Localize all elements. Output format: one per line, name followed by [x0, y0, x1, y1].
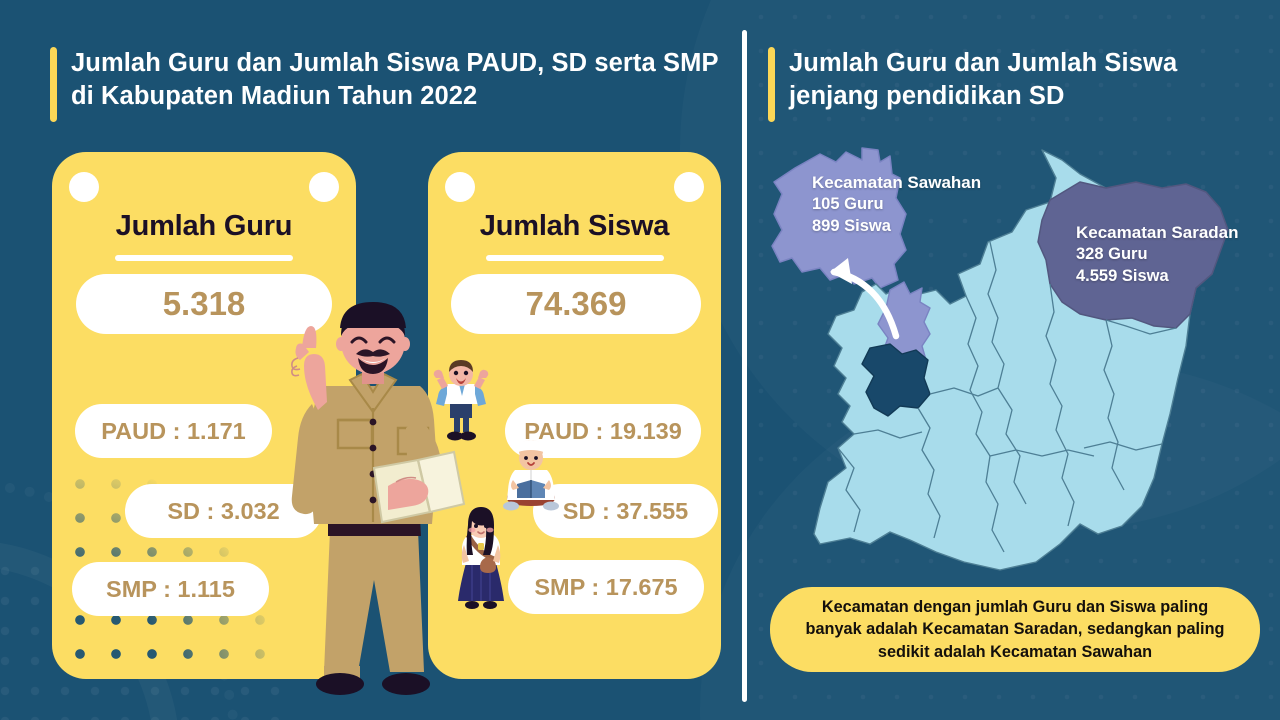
map-label-saradan-siswa: 4.559 Siswa: [1076, 266, 1239, 287]
map-region-kota[interactable]: [862, 344, 930, 416]
card-title-guru: Jumlah Guru: [52, 210, 356, 243]
card-title-siswa: Jumlah Siswa: [428, 210, 721, 243]
map-label-saradan: Kecamatan Saradan 328 Guru 4.559 Siswa: [1076, 222, 1239, 287]
map-label-sawahan-guru: 105 Guru: [812, 194, 981, 215]
stat-guru-paud: PAUD : 1.171: [75, 404, 272, 458]
summary-note-box: Kecamatan dengan jumlah Guru dan Siswa p…: [770, 587, 1260, 672]
map-label-sawahan-name: Kecamatan Sawahan: [812, 172, 981, 194]
right-page-title: Jumlah Guru dan Jumlah Siswa jenjang pen…: [789, 47, 1248, 113]
card-title-underline: [115, 255, 293, 261]
right-title-block: Jumlah Guru dan Jumlah Siswa jenjang pen…: [768, 47, 1248, 122]
punch-hole-right-icon: [309, 172, 339, 202]
punch-hole-left-icon: [445, 172, 475, 202]
card-title-underline: [486, 255, 664, 261]
student-cheering-illustration: [430, 358, 492, 446]
title-accent-bar: [768, 47, 775, 122]
left-title-block: Jumlah Guru dan Jumlah Siswa PAUD, SD se…: [50, 47, 730, 122]
punch-hole-left-icon: [69, 172, 99, 202]
summary-note-text: Kecamatan dengan jumlah Guru dan Siswa p…: [796, 596, 1234, 662]
left-page-title: Jumlah Guru dan Jumlah Siswa PAUD, SD se…: [71, 47, 730, 113]
map-label-sawahan: Kecamatan Sawahan 105 Guru 899 Siswa: [812, 172, 981, 237]
title-accent-bar: [50, 47, 57, 122]
map-label-sawahan-siswa: 899 Siswa: [812, 216, 981, 237]
punch-hole-right-icon: [674, 172, 704, 202]
stat-total-siswa: 74.369: [451, 274, 701, 334]
map-label-saradan-name: Kecamatan Saradan: [1076, 222, 1239, 244]
student-girl-illustration: [450, 505, 512, 615]
stat-guru-smp: SMP : 1.115: [72, 562, 269, 616]
vertical-divider: [742, 30, 747, 702]
infographic-canvas: Jumlah Guru dan Jumlah Siswa PAUD, SD se…: [0, 0, 1280, 720]
map-label-saradan-guru: 328 Guru: [1076, 244, 1239, 265]
stat-siswa-smp: SMP : 17.675: [508, 560, 704, 614]
